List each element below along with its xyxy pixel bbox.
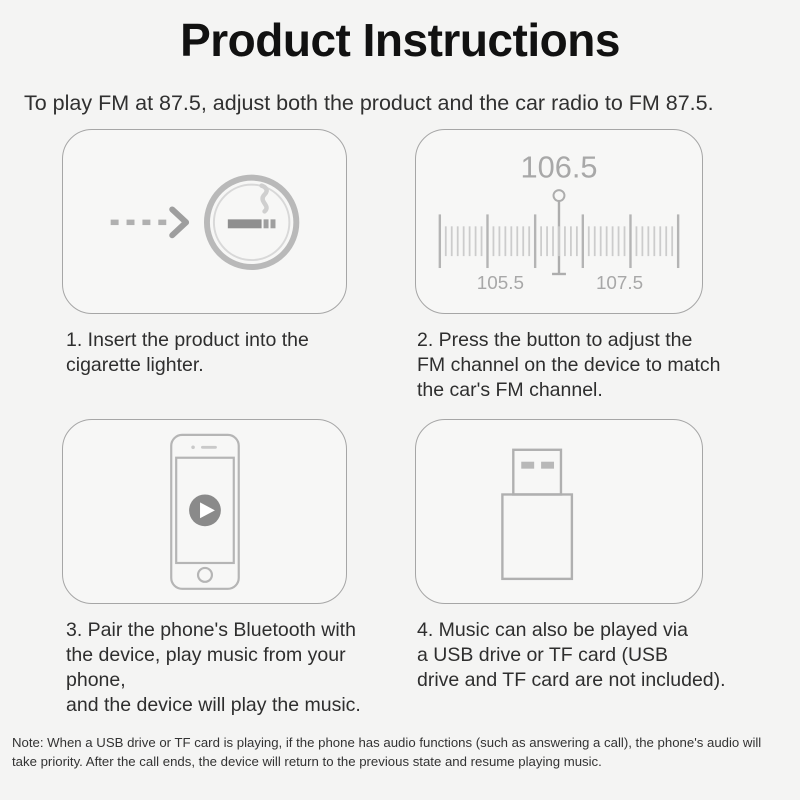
fm-tuner-dial-illustration: 106.5 105.5 107.5 <box>416 130 702 314</box>
step-4-panel <box>415 419 703 604</box>
steps-row-bottom: 3. Pair the phone's Bluetooth with the d… <box>0 419 800 718</box>
arrow-head-icon <box>172 210 186 236</box>
tuner-needle-knob[interactable] <box>554 190 565 201</box>
footer-note: Note: When a USB drive or TF card is pla… <box>0 733 800 771</box>
step-2: 106.5 105.5 107.5 2. Press the button to… <box>400 129 800 403</box>
step-1: 1. Insert the product into the cigarette… <box>0 129 400 403</box>
step-3-panel <box>62 419 347 604</box>
cigarette-lighter-socket-illustration <box>63 130 346 314</box>
home-button[interactable] <box>198 568 212 582</box>
steps-grid: 1. Insert the product into the cigarette… <box>0 117 800 718</box>
step-3-caption: 3. Pair the phone's Bluetooth with the d… <box>62 604 400 718</box>
step-4: 4. Music can also be played via a USB dr… <box>400 419 800 718</box>
usb-drive-body <box>502 495 572 579</box>
step-1-panel <box>62 129 347 314</box>
play-button-icon[interactable] <box>189 495 221 527</box>
tuner-frequency-display: 106.5 <box>520 150 597 185</box>
usb-contact-pins-icon <box>521 462 554 469</box>
step-3: 3. Pair the phone's Bluetooth with the d… <box>0 419 400 718</box>
step-2-panel: 106.5 105.5 107.5 <box>415 129 703 314</box>
step-1-caption: 1. Insert the product into the cigarette… <box>62 314 400 378</box>
speaker-slot-icon <box>201 446 217 449</box>
step-2-caption: 2. Press the button to adjust the FM cha… <box>415 314 800 403</box>
usb-flash-drive-illustration <box>416 420 702 604</box>
smartphone-illustration <box>63 420 346 604</box>
cigarette-symbol-icon <box>228 186 276 229</box>
tuner-label-left: 105.5 <box>477 272 524 293</box>
tuner-label-right: 107.5 <box>596 272 643 293</box>
steps-row-top: 1. Insert the product into the cigarette… <box>0 129 800 403</box>
step-4-caption: 4. Music can also be played via a USB dr… <box>415 604 800 693</box>
intro-text: To play FM at 87.5, adjust both the prod… <box>0 67 800 117</box>
usb-connector-head <box>513 450 561 495</box>
page-title: Product Instructions <box>0 0 800 67</box>
front-camera-dot-icon <box>191 446 195 450</box>
